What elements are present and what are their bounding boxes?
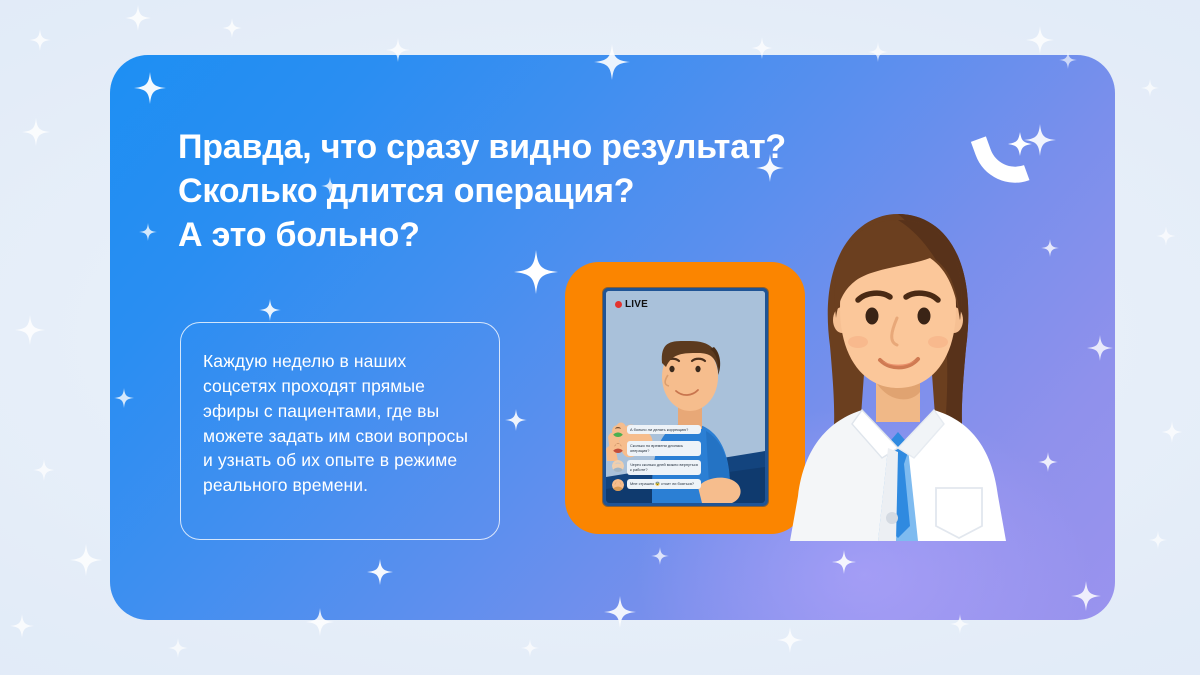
sparkle-icon (70, 544, 102, 576)
chat-message-list: А больно ли делать коррекцию? Сколько по… (612, 425, 730, 495)
sparkle-icon (15, 315, 45, 345)
chat-message: Мне страшно 😨 стоит ли бояться? (612, 479, 730, 491)
sparkle-icon (1141, 79, 1159, 97)
headline-line-1: Правда, что сразу видно результат? (178, 125, 958, 169)
avatar-woman-brown-icon (612, 441, 624, 453)
chat-message-text: А больно ли делать коррекцию? (627, 425, 701, 435)
doctor-illustration (770, 196, 1025, 541)
phone-mockup: LIVE А больно ли делать коррекцию? Сколь… (603, 288, 768, 506)
sparkle-icon (33, 459, 55, 481)
description-box: Каждую неделю в наших соцсетях проходят … (180, 322, 500, 540)
sparkle-icon (1156, 226, 1176, 246)
live-badge: LIVE (615, 299, 648, 310)
avatar-woman-blonde-icon (612, 479, 624, 491)
sparkle-icon (125, 5, 151, 31)
sparkle-icon (777, 627, 803, 653)
live-dot-icon (615, 301, 622, 308)
sparkle-icon (22, 118, 50, 146)
avatar-man-green-icon (612, 425, 624, 437)
description-text: Каждую неделю в наших соцсетях проходят … (203, 349, 475, 498)
sparkle-icon (168, 638, 188, 658)
sparkle-icon (1149, 531, 1167, 549)
crescent-star-logo-icon (965, 118, 1045, 198)
sparkle-icon (10, 614, 34, 638)
chat-message-text: Мне страшно 😨 стоит ли бояться? (627, 479, 701, 489)
chat-message-text: Через сколько дней можно вернуться к раб… (627, 460, 701, 475)
sparkle-icon (1161, 421, 1183, 443)
chat-message: А больно ли делать коррекцию? (612, 425, 730, 437)
chat-message-text: Сколько по времени длилась операция? (627, 441, 701, 456)
avatar-elder-gray-icon (612, 460, 624, 472)
poster-canvas: Правда, что сразу видно результат? Сколь… (0, 0, 1200, 675)
chat-message: Сколько по времени длилась операция? (612, 441, 730, 456)
phone-screen: LIVE А больно ли делать коррекцию? Сколь… (606, 291, 765, 503)
live-label: LIVE (625, 299, 648, 310)
chat-message: Через сколько дней можно вернуться к раб… (612, 460, 730, 475)
sparkle-icon (1026, 26, 1054, 54)
sparkle-icon (521, 639, 539, 657)
sparkle-icon (29, 29, 51, 51)
sparkle-icon (222, 18, 242, 38)
